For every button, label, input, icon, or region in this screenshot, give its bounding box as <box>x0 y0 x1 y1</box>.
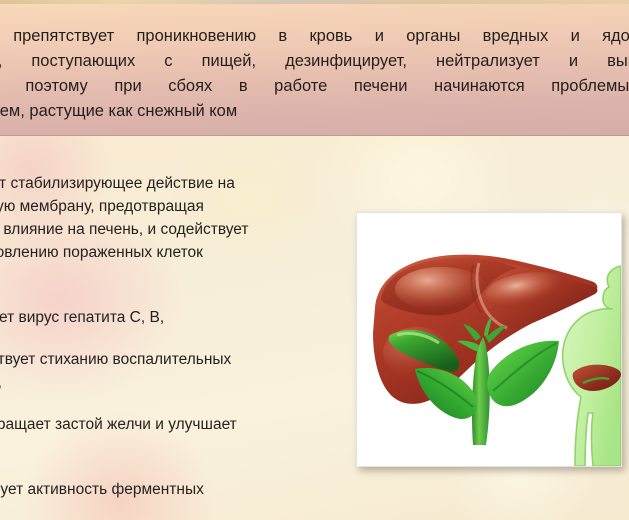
body-paragraph-2: давляет вирус гепатита С, В, <box>0 306 351 329</box>
banner-paragraph: ень препятствует проникновению в кровь и… <box>0 24 629 124</box>
banner-line-4: ровьем, растущие как снежный ком <box>0 99 629 124</box>
liver-with-plant-and-human-silhouette-icon <box>357 213 621 466</box>
banner-strip: ень препятствует проникновению в кровь и… <box>0 0 629 136</box>
body-text-block: зывает стабилизирующее действие на еточн… <box>0 172 351 520</box>
body-paragraph-3: особствует стиханию воспалительных акций… <box>0 348 351 394</box>
liver-illustration-card <box>356 212 622 467</box>
body-paragraph-5: мулирует активность ферментных стем. <box>0 478 351 520</box>
slide-canvas: ень препятствует проникновению в кровь и… <box>0 0 629 520</box>
banner-line-2: еств, поступающих с пищей, дезинфицирует… <box>0 49 629 74</box>
body-paragraph-1: зывает стабилизирующее действие на еточн… <box>0 172 351 287</box>
banner-line-1: ень препятствует проникновению в кровь и… <box>0 24 629 49</box>
body-paragraph-4: едотвращает застой желчи и улучшает отто… <box>0 413 351 459</box>
banner-line-3: ины, поэтому при сбоях в работе печени н… <box>0 74 629 99</box>
liver-highlight-left <box>395 267 487 311</box>
